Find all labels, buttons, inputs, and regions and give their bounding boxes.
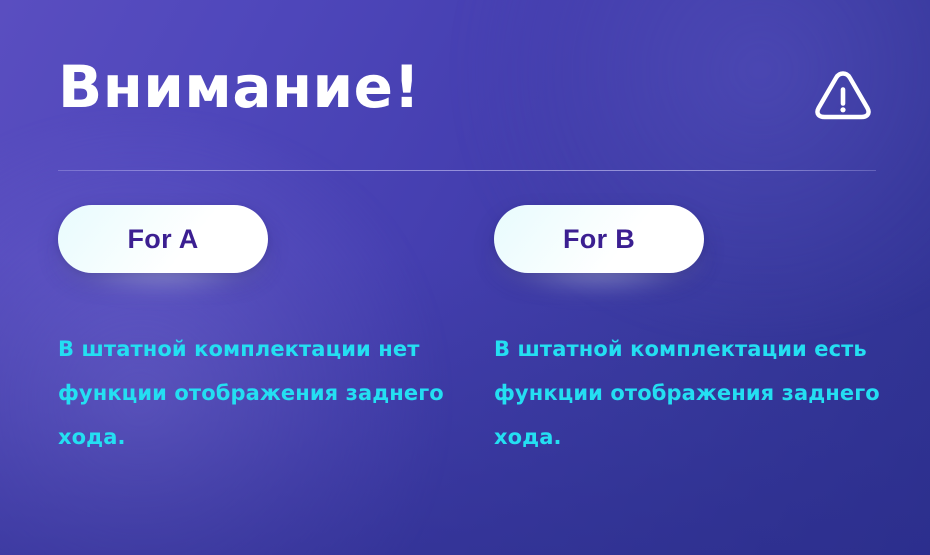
page-title: Внимание!	[58, 52, 420, 122]
pill-button-wrapper-b: For B	[494, 205, 704, 273]
for-b-button[interactable]: For B	[494, 205, 704, 273]
for-a-body-text: В штатной комплектации нет функции отобр…	[58, 327, 448, 459]
for-a-button[interactable]: For A	[58, 205, 268, 273]
pill-button-wrapper-a: For A	[58, 205, 268, 273]
for-b-button-label: For B	[563, 226, 635, 253]
slide-header: Внимание!	[0, 0, 930, 170]
column-for-b: For B В штатной комплектации есть функци…	[494, 205, 894, 273]
warning-slide: Внимание! For A В штатной комплектации н…	[0, 0, 930, 555]
warning-triangle-icon	[812, 64, 874, 126]
column-for-a: For A В штатной комплектации нет функции…	[58, 205, 458, 273]
header-divider	[58, 170, 876, 171]
for-b-body-text: В штатной комплектации есть функции отоб…	[494, 327, 886, 459]
for-a-button-label: For A	[128, 226, 199, 253]
content-columns: For A В штатной комплектации нет функции…	[0, 205, 930, 555]
